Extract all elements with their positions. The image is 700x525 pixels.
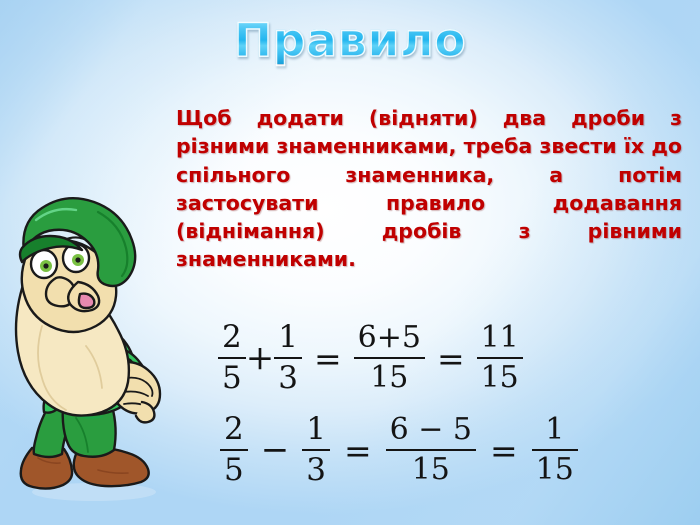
denominator: 5 <box>218 362 246 395</box>
numerator: 6+5 <box>354 322 425 354</box>
dwarf-icon <box>2 186 182 522</box>
operator-equals: = <box>476 434 532 467</box>
dwarf-illustration <box>2 186 182 522</box>
rule-paragraph: Щоб додати (відняти) два дроби з різними… <box>176 104 682 302</box>
operator-plus: + <box>246 341 275 375</box>
fraction-one-fifteenth: 1 15 <box>532 414 578 487</box>
fraction-sum-over-fifteen: 6+5 15 <box>354 322 425 395</box>
operator-equals: = <box>330 434 386 467</box>
numerator: 2 <box>218 321 246 354</box>
numerator: 2 <box>220 413 248 446</box>
numerator: 6 − 5 <box>386 414 476 446</box>
operator-equals: = <box>425 342 477 375</box>
fraction-bar <box>302 449 330 452</box>
numerator: 1 <box>302 413 330 446</box>
denominator: 3 <box>274 362 302 395</box>
denominator: 5 <box>220 454 248 487</box>
operator-minus: − <box>248 433 303 467</box>
fraction-two-fifths: 2 5 <box>220 413 248 488</box>
fraction-two-fifths: 2 5 <box>218 321 246 396</box>
fraction-eleven-fifteenths: 11 15 <box>477 322 523 395</box>
fraction-bar <box>274 357 302 360</box>
equation-subtraction: 2 5 − 1 3 = 6 − 5 15 = 1 15 <box>196 404 526 496</box>
fraction-bar <box>354 357 425 360</box>
fraction-bar <box>218 357 246 360</box>
equations-block: 2 5 + 1 3 = 6+5 15 = 11 15 <box>196 312 526 496</box>
denominator: 3 <box>302 454 330 487</box>
slide-canvas: Правило Щоб додати (відняти) два дроби з… <box>0 0 700 525</box>
numerator: 11 <box>477 322 523 354</box>
denominator: 15 <box>477 362 523 394</box>
fraction-difference-over-fifteen: 6 − 5 15 <box>386 414 476 487</box>
tongue <box>79 294 94 308</box>
fraction-bar <box>220 449 248 452</box>
numerator: 1 <box>541 414 568 446</box>
fraction-one-third: 1 3 <box>274 321 302 396</box>
denominator: 15 <box>408 454 454 486</box>
denominator: 15 <box>532 454 578 486</box>
pupil-right <box>75 257 80 262</box>
pupil-left <box>43 263 48 268</box>
numerator: 1 <box>274 321 302 354</box>
denominator: 15 <box>366 362 412 394</box>
fraction-one-third: 1 3 <box>302 413 330 488</box>
fraction-bar <box>532 449 578 452</box>
fraction-bar <box>386 449 476 452</box>
equation-addition: 2 5 + 1 3 = 6+5 15 = 11 15 <box>196 312 526 404</box>
page-title: Правило <box>0 16 700 64</box>
fraction-bar <box>477 357 523 360</box>
operator-equals: = <box>302 342 354 375</box>
